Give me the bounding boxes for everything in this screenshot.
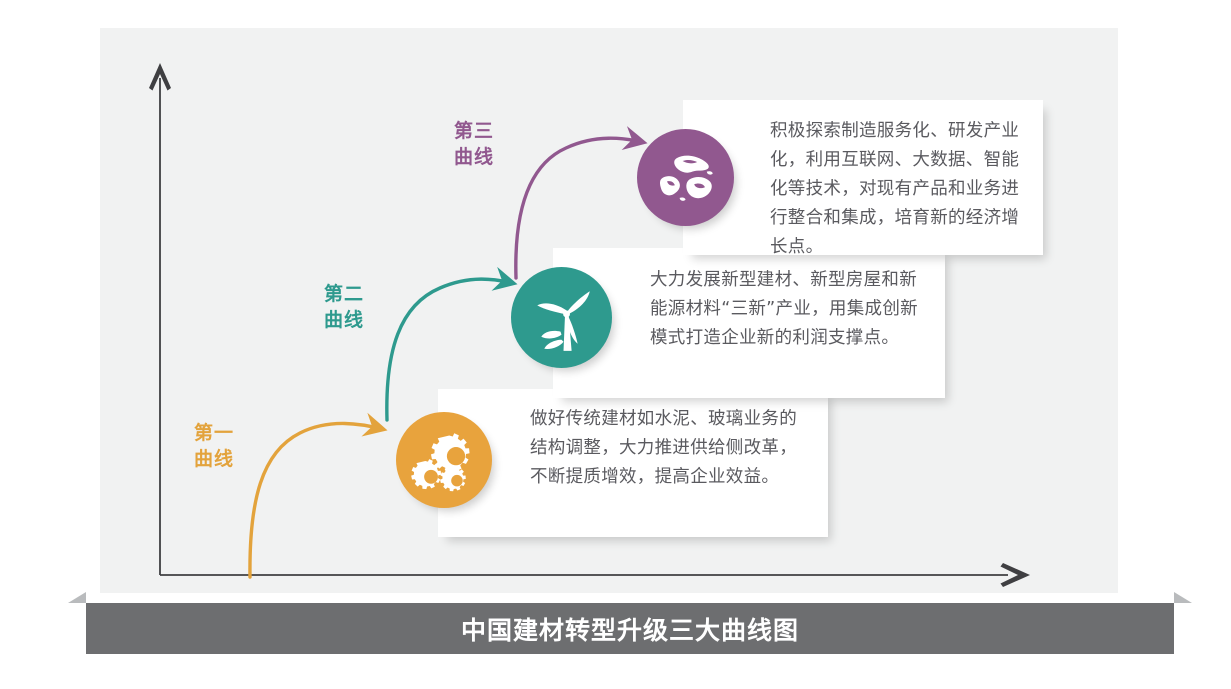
stage-card-1[interactable]: 做好传统建材如水泥、玻璃业务的结构调整，大力推进供给侧改革，不断提质增效，提高企…: [438, 389, 828, 537]
curve-label-stage-2: 第二 曲线: [308, 281, 380, 333]
curve-label-stage-1: 第一 曲线: [178, 420, 250, 472]
ribbon-fold-left: [68, 592, 86, 603]
stage-2-badge[interactable]: [511, 267, 612, 368]
gears-icon: [396, 412, 492, 508]
page-title: 中国建材转型升级三大曲线图: [86, 603, 1174, 654]
ribbon-fold-right: [1174, 592, 1192, 603]
stage-1-body-text: 做好传统建材如水泥、玻璃业务的结构调整，大力推进供给侧改革，不断提质增效，提高企…: [530, 405, 806, 492]
stage-3-badge[interactable]: [637, 129, 734, 226]
stage-3-body-text: 积极探索制造服务化、研发产业化，利用互联网、大数据、智能化等技术，对现有产品和业…: [770, 117, 1032, 262]
infographic-root: 做好传统建材如水泥、玻璃业务的结构调整，大力推进供给侧改革，不断提质增效，提高企…: [0, 0, 1231, 689]
stage-card-3[interactable]: 积极探索制造服务化、研发产业化，利用互联网、大数据、智能化等技术，对现有产品和业…: [683, 100, 1043, 255]
curve-label-stage-3: 第三 曲线: [438, 118, 510, 170]
title-ribbon: 中国建材转型升级三大曲线图: [68, 592, 1192, 654]
wind-turbine-leaf-icon: [511, 267, 612, 368]
world-map-icon: [637, 129, 734, 226]
stage-2-body-text: 大力发展新型建材、新型房屋和新能源材料“三新”产业，用集成创新模式打造企业新的利…: [650, 266, 928, 353]
stage-1-badge[interactable]: [396, 412, 492, 508]
